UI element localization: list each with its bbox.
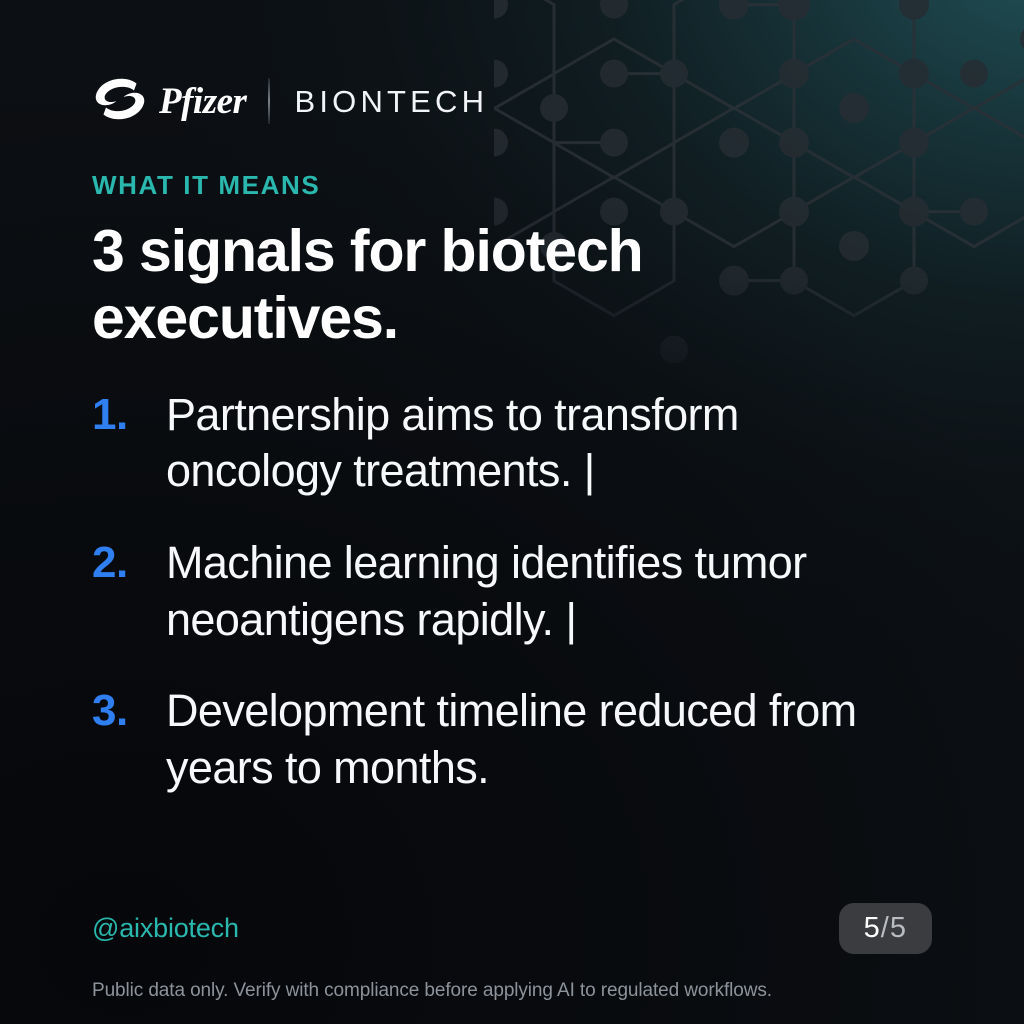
list-item-text: Partnership aims to transform oncology t…: [166, 387, 896, 500]
list-item: 3. Development timeline reduced from yea…: [92, 683, 952, 796]
account-handle: @aixbiotech: [92, 913, 239, 944]
page-title: 3 signals for biotech executives.: [92, 218, 792, 353]
slide-canvas: Pfizer BIONTECH WHAT IT MEANS 3 signals …: [0, 0, 1024, 1024]
pfizer-wordmark: Pfizer: [159, 83, 246, 120]
eyebrow-label: WHAT IT MEANS: [92, 172, 952, 198]
page-current: 5: [864, 912, 881, 944]
list-item-text: Development timeline reduced from years …: [166, 683, 896, 796]
list-item: 1. Partnership aims to transform oncolog…: [92, 387, 952, 500]
disclaimer-text: Public data only. Verify with compliance…: [92, 980, 952, 1002]
vertical-divider-icon: [268, 78, 270, 124]
list-item-number: 3.: [92, 683, 166, 738]
brand-lockup: Pfizer BIONTECH: [92, 74, 952, 128]
page-separator: /: [881, 912, 890, 944]
list-item-number: 2.: [92, 535, 166, 590]
biontech-wordmark: BIONTECH: [294, 86, 488, 117]
list-item: 2. Machine learning identifies tumor neo…: [92, 535, 952, 648]
pfizer-helix-icon: [92, 77, 148, 126]
page-indicator-badge: 5/5: [839, 903, 932, 954]
list-item-number: 1.: [92, 387, 166, 442]
list-item-text: Machine learning identifies tumor neoant…: [166, 535, 896, 648]
page-total: 5: [890, 912, 907, 944]
pfizer-logo: Pfizer: [92, 77, 246, 126]
footer-row: @aixbiotech 5/5: [92, 903, 952, 954]
slide-footer: @aixbiotech 5/5 Public data only. Verify…: [92, 903, 952, 1024]
signals-list: 1. Partnership aims to transform oncolog…: [92, 387, 952, 797]
slide-content: Pfizer BIONTECH WHAT IT MEANS 3 signals …: [0, 0, 1024, 1024]
